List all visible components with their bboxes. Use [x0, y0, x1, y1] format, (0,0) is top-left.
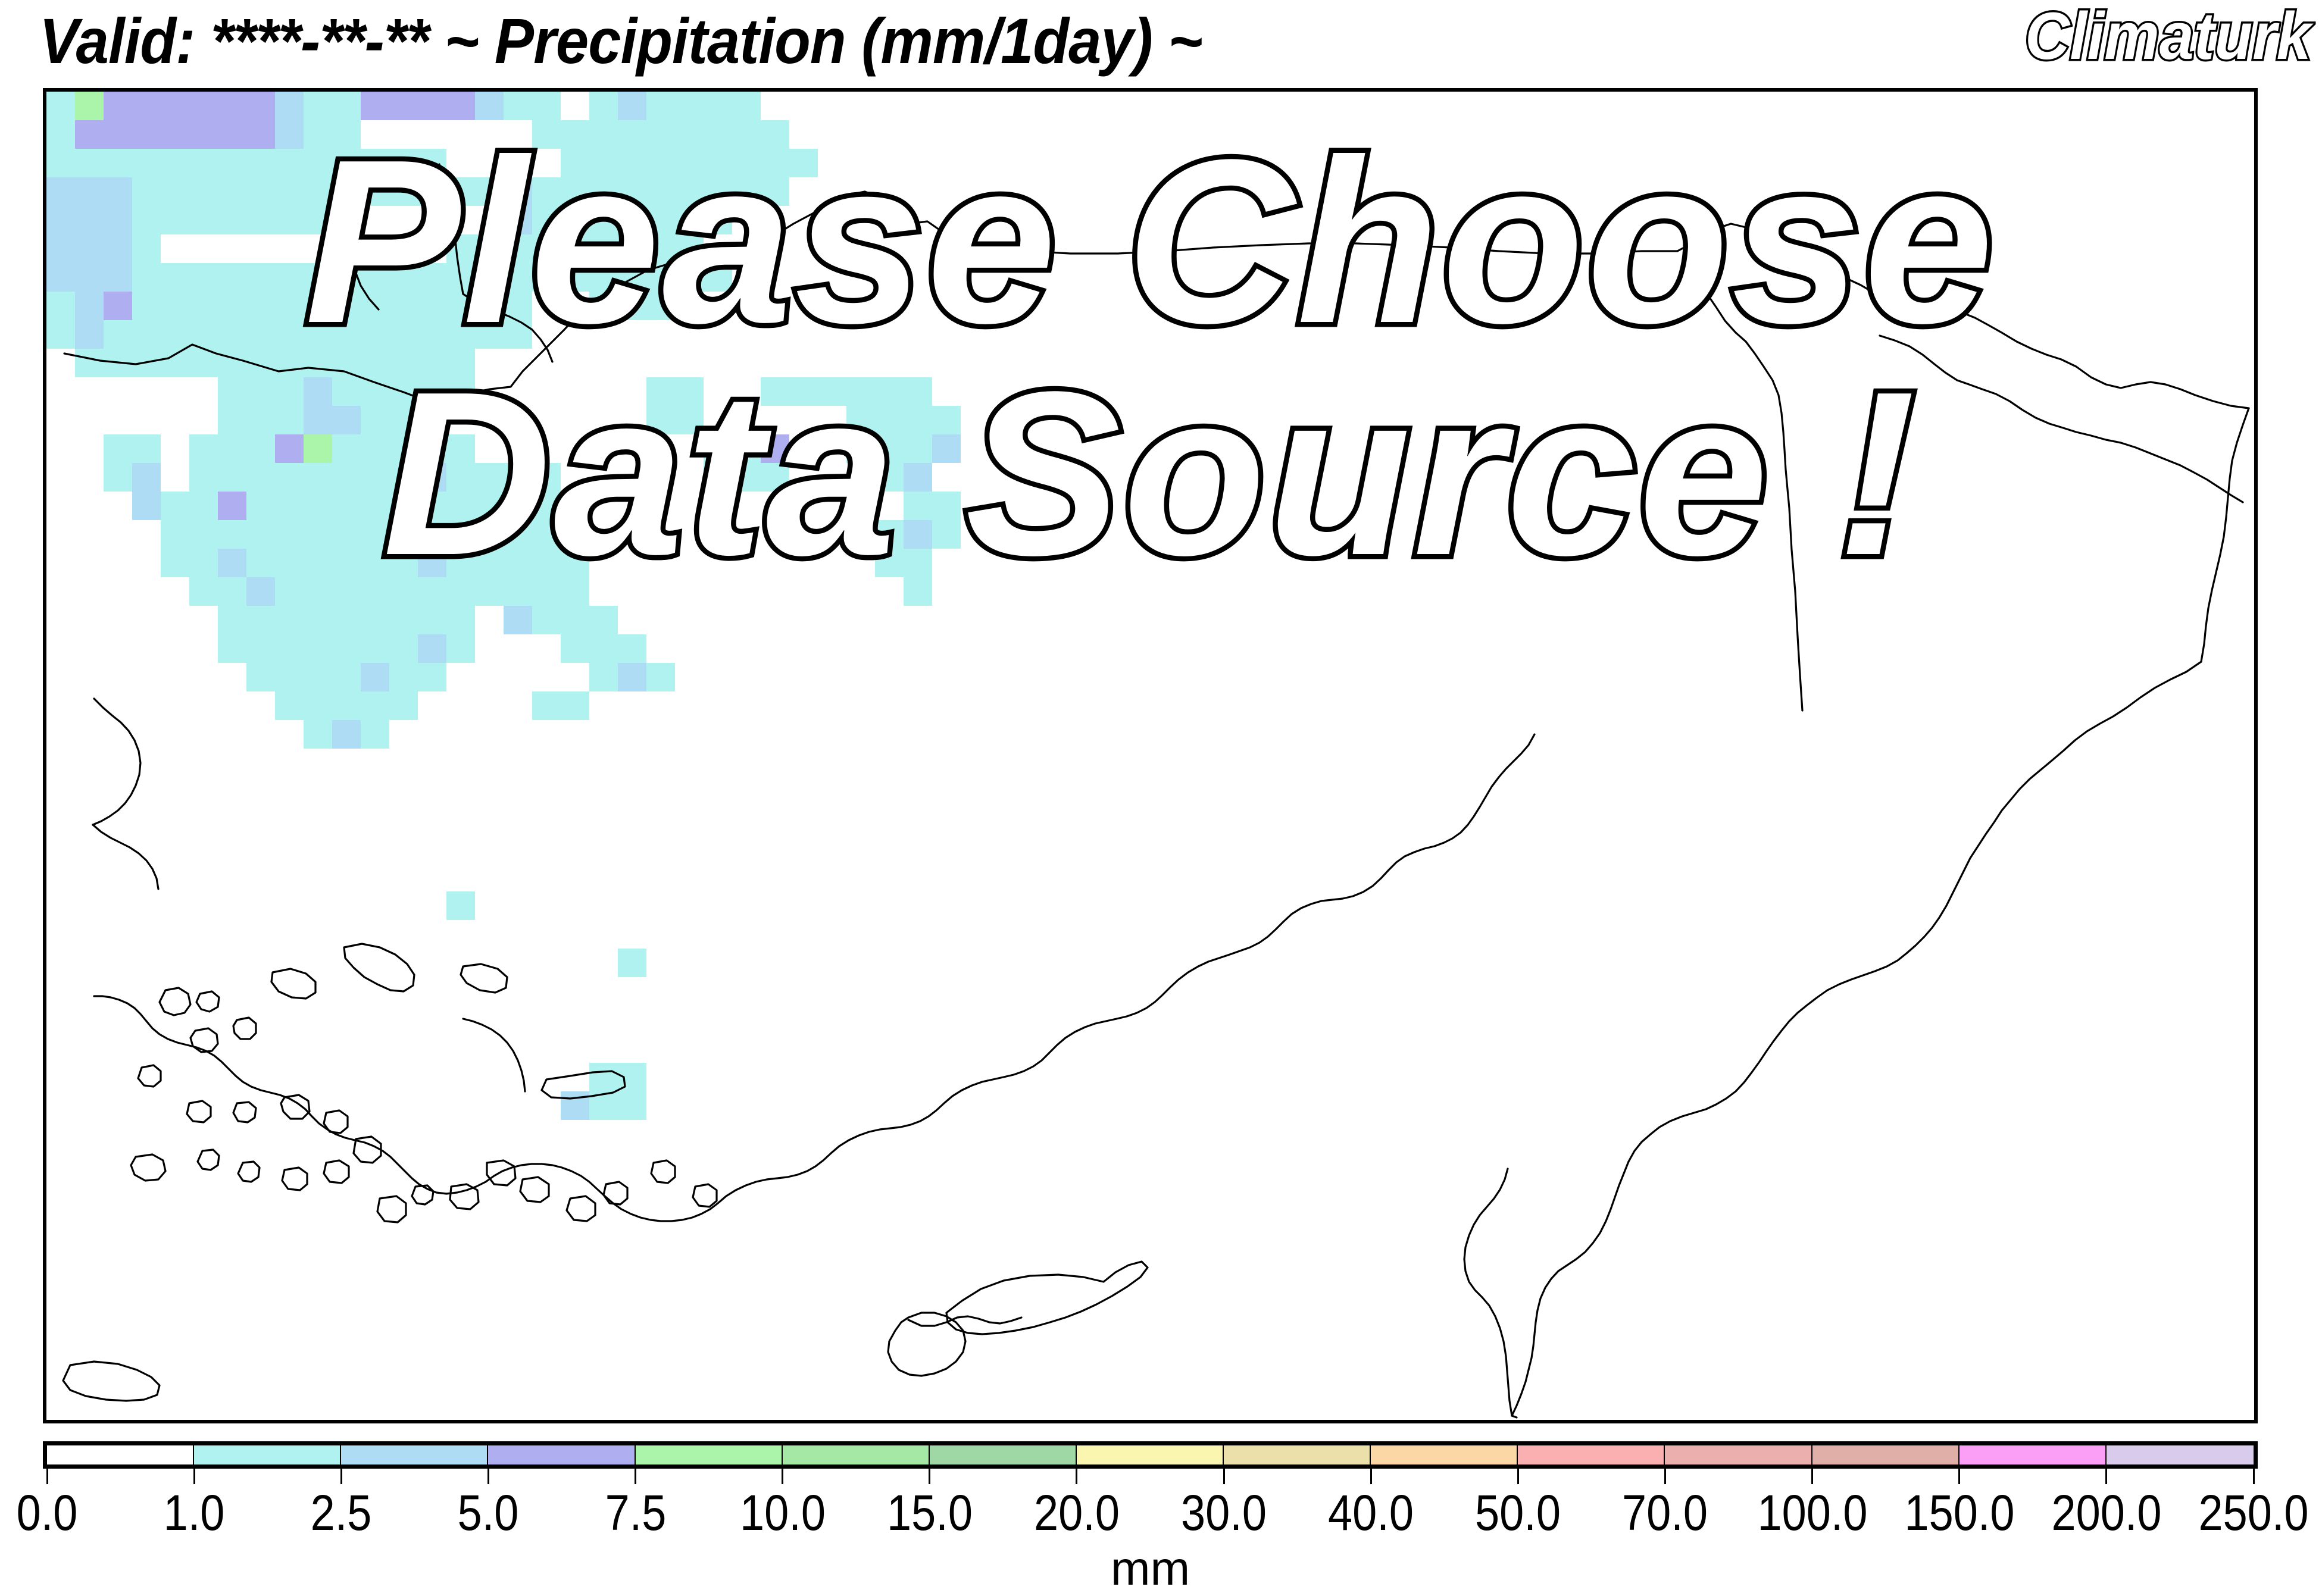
colorbar-tick-6	[929, 1469, 930, 1484]
colorbar-band-10	[1518, 1445, 1665, 1464]
coastline-overlay	[46, 92, 2254, 1420]
brand-watermark: Climaturk	[2026, 0, 2311, 74]
colorbar-band-13	[1960, 1445, 2107, 1464]
colorbar-tick-1	[193, 1469, 195, 1484]
colorbar-band-7	[1077, 1445, 1224, 1464]
colorbar-unit-label: mm	[43, 1541, 2258, 1596]
colorbar-tick-labels: 0.01.02.55.07.510.015.020.030.040.050.07…	[43, 1484, 2258, 1539]
colorbar-label-0: 0.0	[17, 1484, 78, 1542]
colorbar-tick-12	[1811, 1469, 1813, 1484]
colorbar-band-14	[2107, 1445, 2254, 1464]
colorbar-band-5	[783, 1445, 930, 1464]
colorbar-tick-9	[1370, 1469, 1372, 1484]
colorbar-tick-3	[487, 1469, 489, 1484]
colorbar-band-9	[1371, 1445, 1518, 1464]
colorbar-tick-15	[2253, 1469, 2255, 1484]
colorbar-label-15: 250.0	[2199, 1484, 2309, 1542]
colorbar-label-7: 20.0	[1034, 1484, 1120, 1542]
colorbar-label-3: 5.0	[458, 1484, 519, 1542]
colorbar-tick-10	[1517, 1469, 1519, 1484]
greek-islands	[131, 944, 717, 1222]
caucasus-border	[1677, 224, 2249, 711]
colorbar-band-8	[1224, 1445, 1371, 1464]
colorbar-label-6: 15.0	[887, 1484, 973, 1542]
colorbar-label-11: 70.0	[1623, 1484, 1708, 1542]
crete-and-south	[63, 1362, 160, 1401]
precipitation-map[interactable]: Please Choose Data Source !	[43, 88, 2258, 1423]
colorbar[interactable]	[43, 1441, 2258, 1469]
colorbar-band-2	[341, 1445, 488, 1464]
colorbar-tick-2	[340, 1469, 342, 1484]
colorbar-band-6	[930, 1445, 1077, 1464]
colorbar-tick-7	[1076, 1469, 1077, 1484]
colorbar-ticks	[43, 1469, 2258, 1484]
colorbar-label-12: 100.0	[1757, 1484, 1867, 1542]
colorbar-label-1: 1.0	[164, 1484, 225, 1542]
header-bar: Valid: ****-**-** ~ Precipitation (mm/1d…	[0, 0, 2322, 88]
colorbar-label-14: 200.0	[2051, 1484, 2161, 1542]
colorbar-label-4: 7.5	[605, 1484, 666, 1542]
colorbar-band-1	[194, 1445, 341, 1464]
colorbar-label-8: 30.0	[1181, 1484, 1267, 1542]
levant-coast	[1464, 1169, 1512, 1416]
black-sea-coast	[64, 192, 1677, 407]
mediterranean-coast	[486, 734, 1535, 1221]
colorbar-tick-8	[1223, 1469, 1225, 1484]
colorbar-band-12	[1812, 1445, 1960, 1464]
colorbar-label-10: 50.0	[1475, 1484, 1561, 1542]
balkan-coast	[93, 699, 158, 889]
colorbar-band-3	[488, 1445, 635, 1464]
map-canvas: Please Choose Data Source !	[46, 92, 2254, 1420]
colorbar-tick-5	[782, 1469, 783, 1484]
colorbar-tick-4	[635, 1469, 636, 1484]
colorbar-band-4	[636, 1445, 783, 1464]
cyprus-island	[888, 1262, 1148, 1376]
page-title: Valid: ****-**-** ~ Precipitation (mm/1d…	[39, 4, 1202, 78]
eastern-border	[1512, 408, 2249, 1416]
colorbar-section: 0.01.02.55.07.510.015.020.030.040.050.07…	[43, 1441, 2258, 1539]
northwest-borders	[338, 163, 552, 362]
colorbar-tick-0	[46, 1469, 48, 1484]
colorbar-band-0	[47, 1445, 194, 1464]
colorbar-label-5: 10.0	[740, 1484, 826, 1542]
colorbar-label-13: 150.0	[1904, 1484, 2014, 1542]
aegean-coast	[94, 996, 525, 1194]
colorbar-band-11	[1665, 1445, 1812, 1464]
colorbar-tick-11	[1664, 1469, 1666, 1484]
colorbar-tick-13	[1958, 1469, 1960, 1484]
colorbar-tick-14	[2105, 1469, 2107, 1484]
colorbar-label-2: 2.5	[311, 1484, 372, 1542]
colorbar-label-9: 40.0	[1328, 1484, 1414, 1542]
anatolia-interior-borders	[1512, 1416, 1517, 1417]
